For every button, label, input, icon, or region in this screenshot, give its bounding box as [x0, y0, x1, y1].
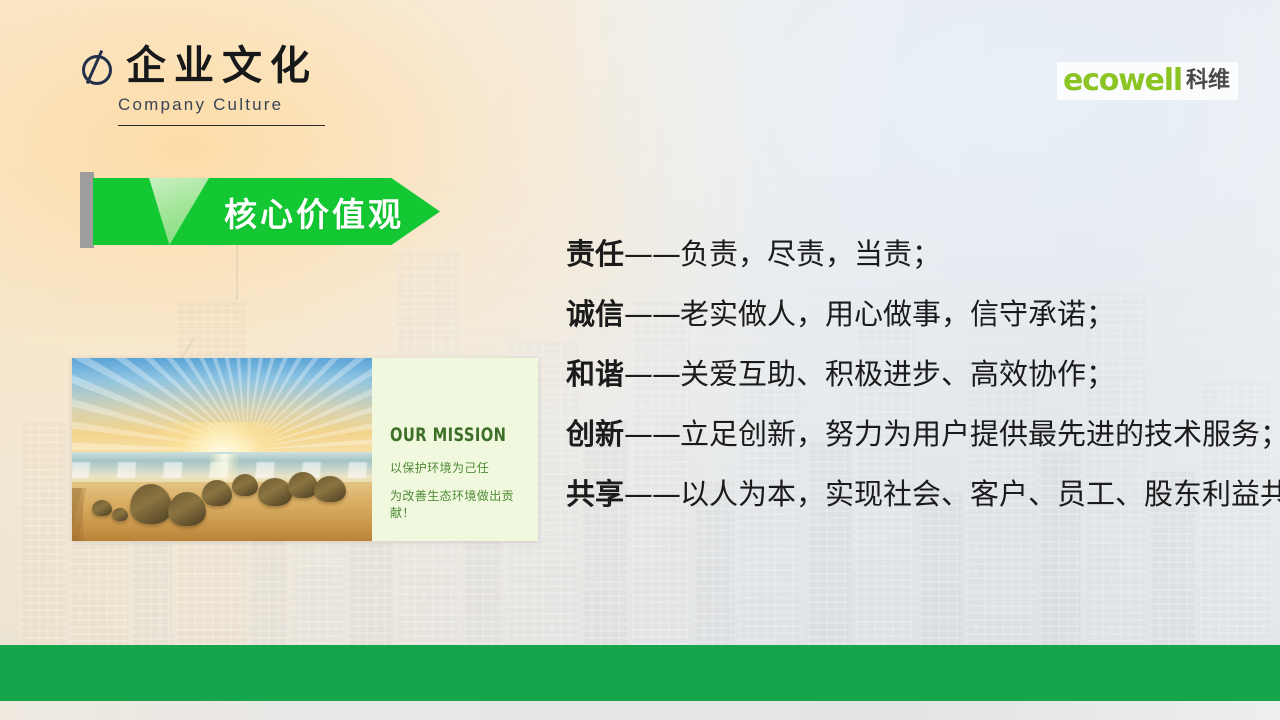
value-item-innovation: 创新——立足创新，努力为用户提供最先进的技术服务；: [566, 420, 1266, 449]
value-item-integrity: 诚信——老实做人，用心做事，信守承诺；: [566, 300, 1266, 329]
value-text: 关爱互助、积极进步、高效协作；: [680, 357, 1115, 391]
value-text: 立足创新，努力为用户提供最先进的技术服务；: [680, 417, 1280, 451]
value-text: 老实做人，用心做事，信守承诺；: [680, 297, 1115, 331]
title-underline: [118, 125, 325, 126]
value-dash: ——: [624, 237, 680, 271]
value-keyword: 诚信: [566, 297, 624, 331]
value-text: 以人为本，实现社会、客户、员工、股东利益共赢。: [680, 477, 1280, 511]
footer-green-bar: [0, 645, 1280, 701]
value-dash: ——: [624, 477, 680, 511]
banner-label: 核心价值观: [214, 178, 414, 245]
value-keyword: 责任: [566, 237, 624, 271]
value-keyword: 创新: [566, 417, 624, 451]
slide-canvas: 企业文化 Company Culture ecowell 科维 核心价值观: [0, 0, 1280, 720]
footer-bottom-strip: [0, 701, 1280, 720]
mission-heading: OUR MISSION: [390, 424, 517, 446]
mission-line-1: 以保护环境为己任: [390, 459, 538, 476]
value-dash: ——: [624, 417, 680, 451]
company-logo: ecowell 科维: [1057, 62, 1238, 100]
value-dash: ——: [624, 297, 680, 331]
core-values-banner: 核心价值观: [80, 172, 440, 250]
beach-sunset-photo: [72, 358, 372, 541]
slash-circle-icon: [78, 50, 112, 84]
value-item-responsibility: 责任——负责，尽责，当责；: [566, 240, 1266, 269]
page-title: 企业文化 Company Culture: [78, 46, 325, 126]
value-text: 负责，尽责，当责；: [680, 237, 941, 271]
value-dash: ——: [624, 357, 680, 391]
banner-shadow-bar: [80, 172, 94, 248]
mission-card: OUR MISSION 以保护环境为己任 为改善生态环境做出贡献！: [72, 358, 538, 541]
value-item-harmony: 和谐——关爱互助、积极进步、高效协作；: [566, 360, 1266, 389]
value-keyword: 共享: [566, 477, 624, 511]
title-english: Company Culture: [118, 95, 325, 115]
title-chinese: 企业文化: [126, 46, 318, 86]
value-keyword: 和谐: [566, 357, 624, 391]
logo-wordmark-chinese: 科维: [1186, 70, 1230, 92]
value-item-sharing: 共享——以人为本，实现社会、客户、员工、股东利益共赢。: [566, 480, 1266, 509]
logo-wordmark: ecowell: [1063, 66, 1182, 96]
mission-line-2: 为改善生态环境做出贡献！: [390, 487, 538, 521]
core-values-list: 责任——负责，尽责，当责； 诚信——老实做人，用心做事，信守承诺； 和谐——关爱…: [566, 240, 1266, 540]
